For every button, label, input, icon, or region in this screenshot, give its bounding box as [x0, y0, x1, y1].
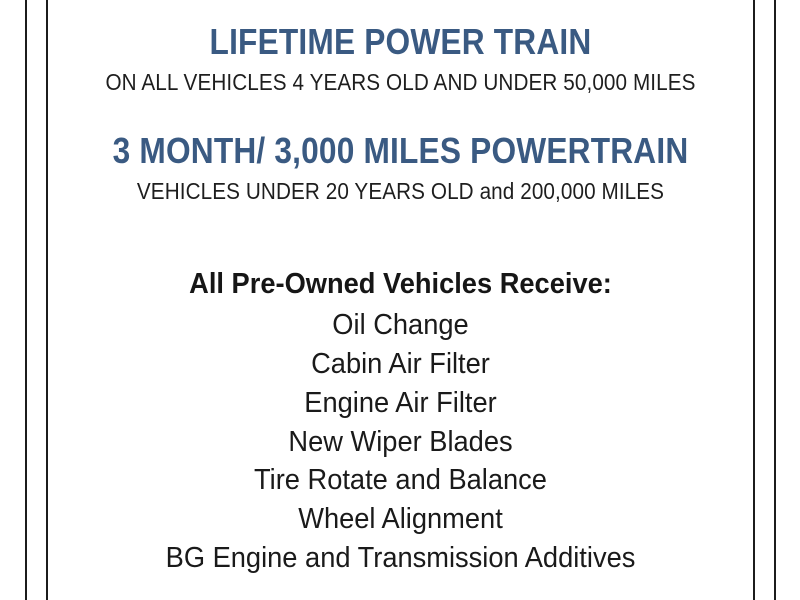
services-section: All Pre-Owned Vehicles Receive: Oil Chan…	[48, 266, 753, 578]
warranty-offer-three-month: 3 MONTH/ 3,000 MILES POWERTRAIN VEHICLES…	[48, 95, 753, 204]
list-item: Tire Rotate and Balance	[69, 461, 732, 500]
flyer-page: LIFETIME POWER TRAIN ON ALL VEHICLES 4 Y…	[0, 0, 800, 600]
services-list: Oil Change Cabin Air Filter Engine Air F…	[48, 306, 753, 578]
warranty-subhead-three-month: VEHICLES UNDER 20 YEARS OLD and 200,000 …	[83, 178, 718, 204]
list-item: Engine Air Filter	[69, 384, 732, 423]
list-item: New Wiper Blades	[69, 423, 732, 462]
list-item: Cabin Air Filter	[69, 345, 732, 384]
list-item: BG Engine and Transmission Additives	[69, 539, 732, 578]
frame-rule-right-inner	[753, 0, 755, 600]
warranty-subhead-lifetime: ON ALL VEHICLES 4 YEARS OLD AND UNDER 50…	[83, 69, 718, 95]
list-item: Wheel Alignment	[69, 500, 732, 539]
frame-rule-left-outer	[25, 0, 27, 600]
warranty-headline-three-month: 3 MONTH/ 3,000 MILES POWERTRAIN	[90, 133, 710, 170]
services-title: All Pre-Owned Vehicles Receive:	[69, 266, 732, 304]
warranty-offer-lifetime: LIFETIME POWER TRAIN ON ALL VEHICLES 4 Y…	[48, 0, 753, 95]
list-item: Oil Change	[69, 306, 732, 345]
frame-rule-right-outer	[774, 0, 776, 600]
warranty-headline-lifetime: LIFETIME POWER TRAIN	[90, 24, 710, 61]
flyer-content: LIFETIME POWER TRAIN ON ALL VEHICLES 4 Y…	[48, 0, 753, 600]
